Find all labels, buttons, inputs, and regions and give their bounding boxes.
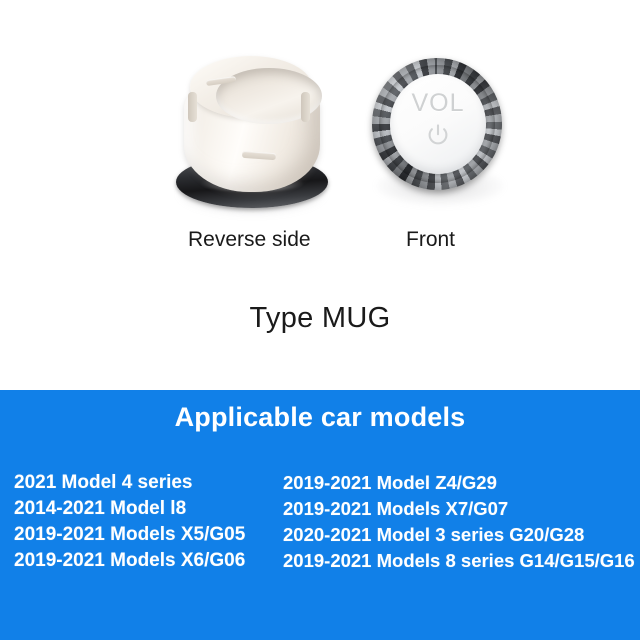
knob-front-photo: VOL — [372, 58, 508, 210]
caption-front: Front — [406, 228, 455, 252]
list-item: 2019-2021 Model Z4/G29 — [283, 470, 635, 496]
cap-notch-right — [301, 92, 310, 122]
list-item: 2019-2021 Models X7/G07 — [283, 496, 635, 522]
cap-rim — [190, 56, 312, 118]
product-photo-area: VOL Reverse side Front Type MUG — [0, 0, 640, 390]
product-photo-row: VOL — [0, 20, 640, 220]
page-title: Type MUG — [0, 302, 640, 335]
list-item: 2014-2021 Model l8 — [14, 496, 245, 522]
caption-reverse-side: Reverse side — [188, 228, 311, 252]
list-item: 2021 Model 4 series — [14, 470, 245, 496]
models-column-left: 2021 Model 4 series 2014-2021 Model l8 2… — [14, 470, 245, 574]
knurled-outer-ring: VOL — [372, 58, 502, 190]
list-item: 2020-2021 Model 3 series G20/G28 — [283, 522, 635, 548]
cap-notch-left — [188, 92, 197, 122]
list-item: 2019-2021 Models X6/G06 — [14, 548, 245, 574]
applicable-models-banner: Applicable car models 2021 Model 4 serie… — [0, 390, 640, 640]
list-item: 2019-2021 Models 8 series G14/G15/G16 — [283, 548, 635, 574]
photo-captions: Reverse side Front — [0, 228, 640, 262]
product-info-image: VOL Reverse side Front Type MUG Ap — [0, 0, 640, 640]
list-item: 2019-2021 Models X5/G05 — [14, 522, 245, 548]
models-column-right: 2019-2021 Model Z4/G29 2019-2021 Models … — [283, 470, 635, 574]
banner-heading: Applicable car models — [0, 402, 640, 433]
knob-cap-reverse-photo — [172, 52, 332, 217]
power-icon — [425, 122, 451, 153]
knob-face: VOL — [390, 74, 486, 174]
vol-label: VOL — [411, 91, 464, 116]
